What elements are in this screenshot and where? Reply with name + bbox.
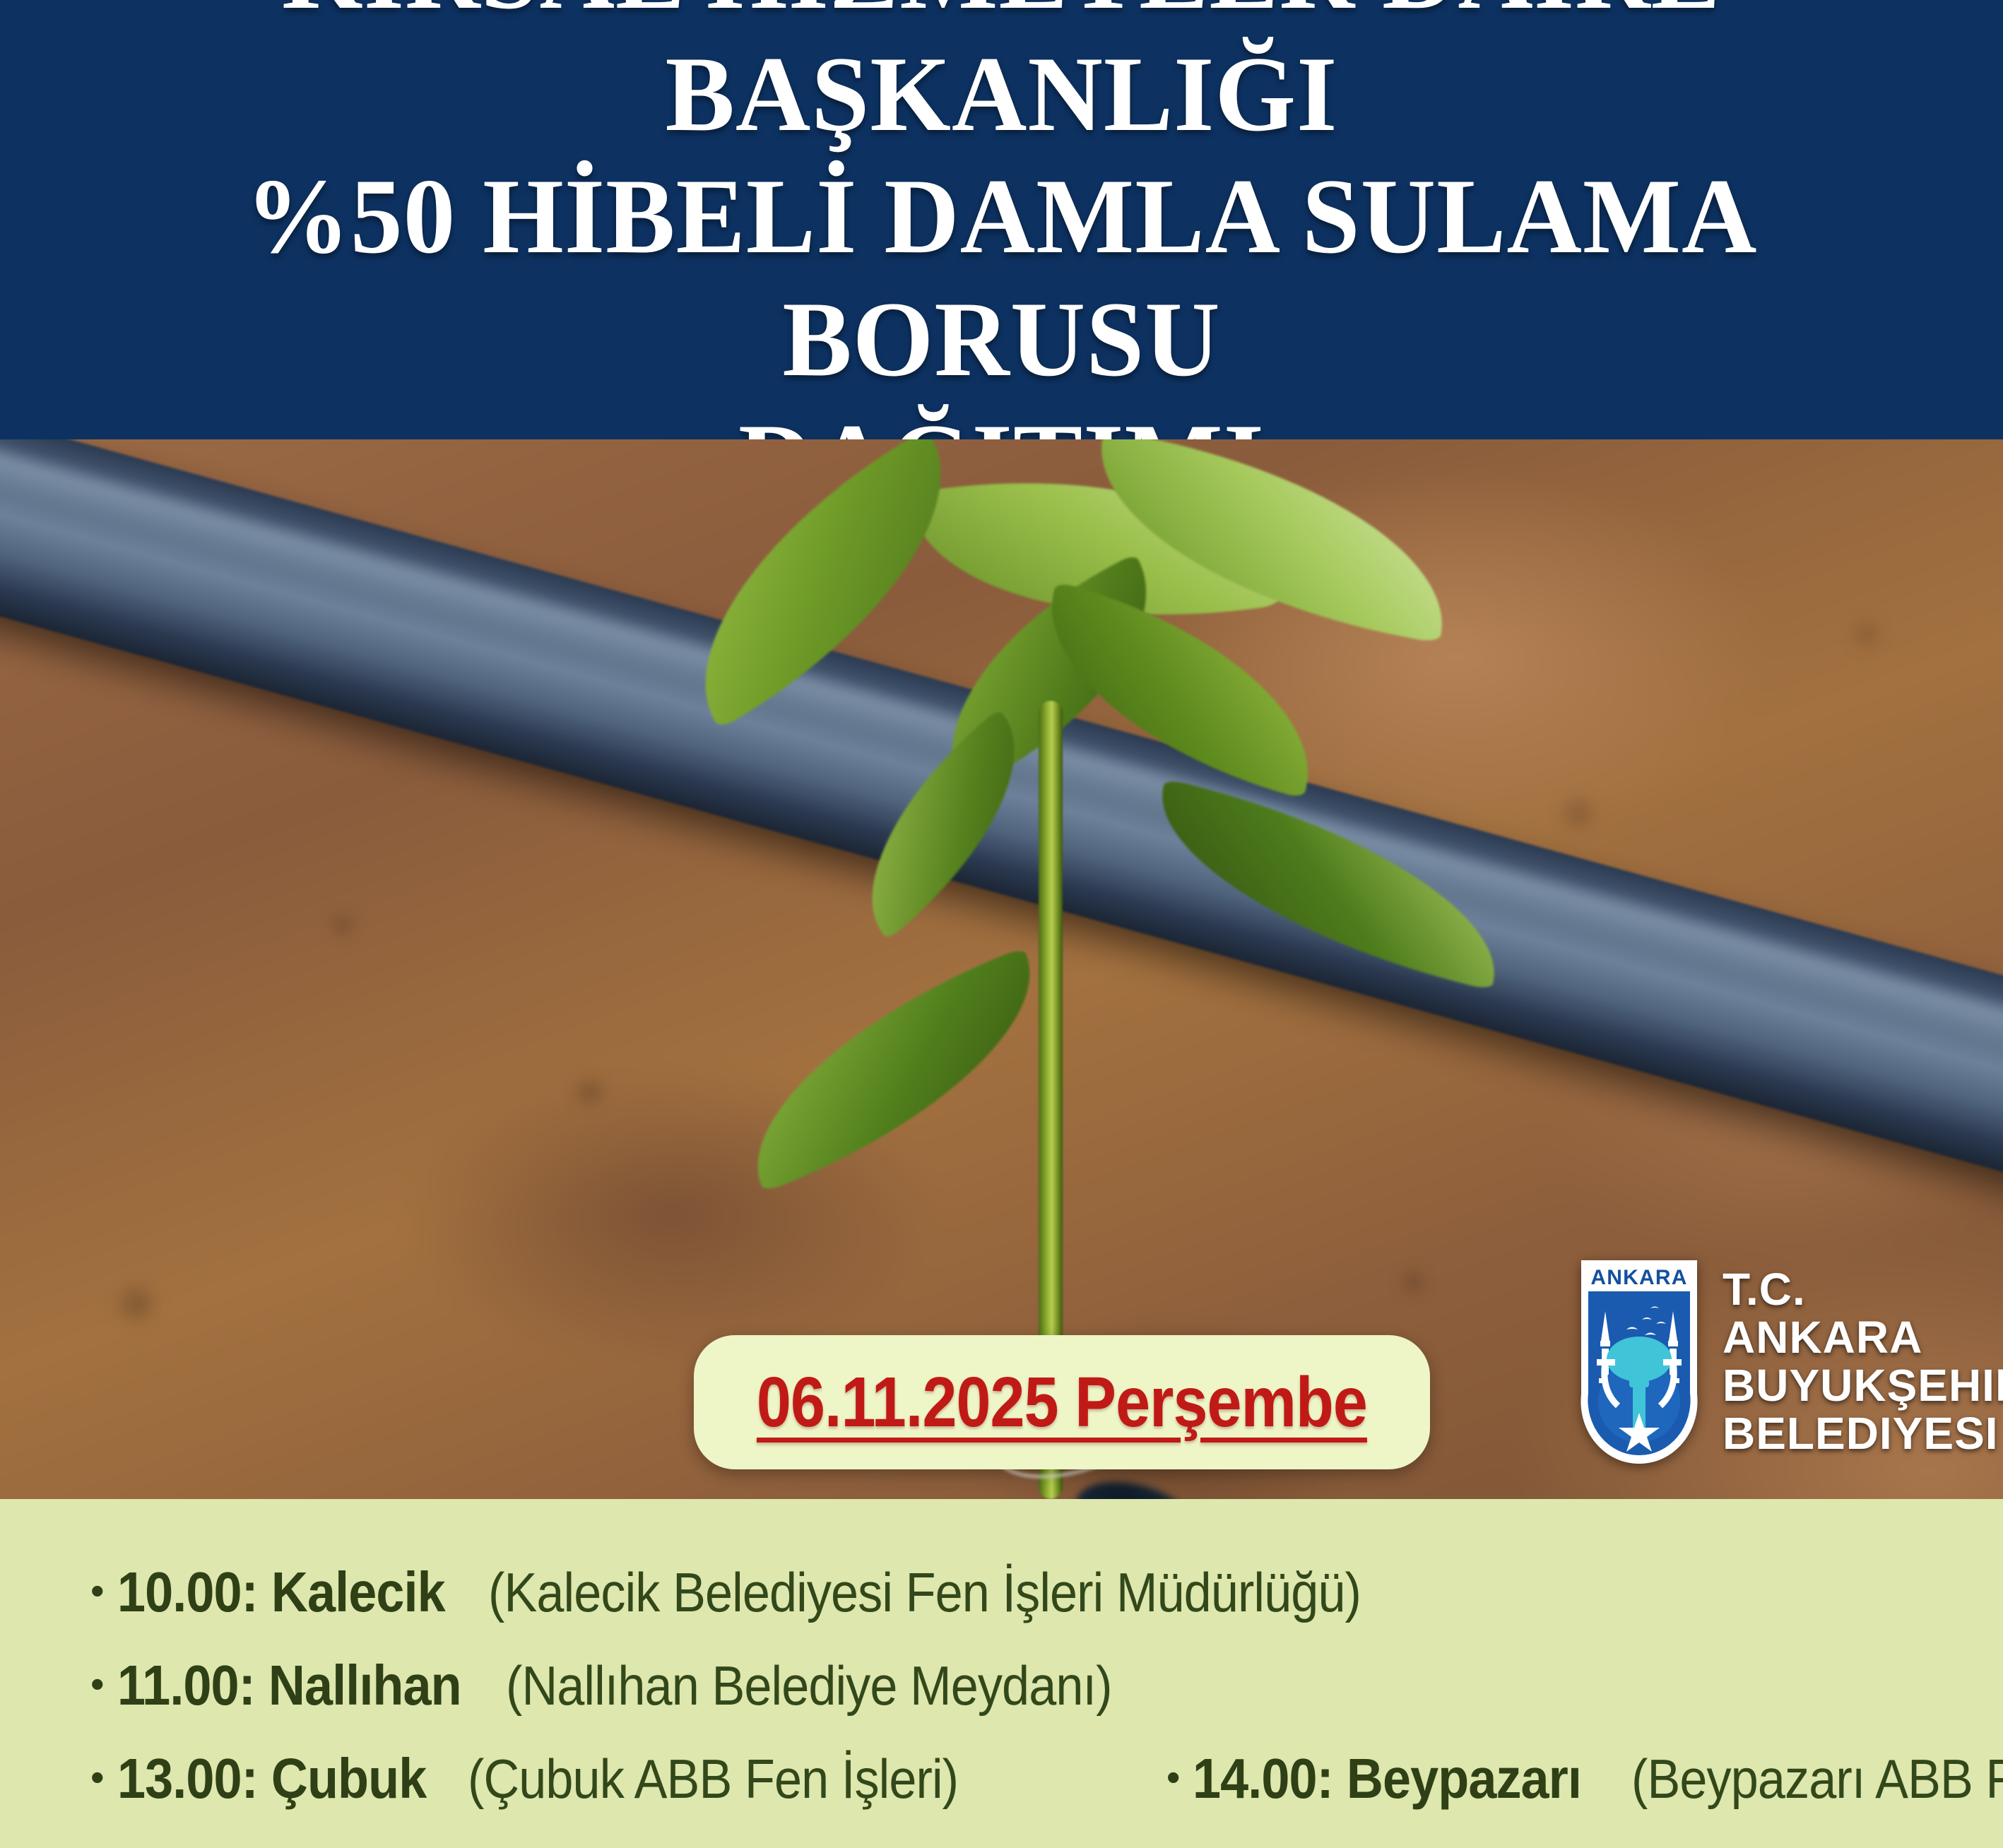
bullet-icon: • bbox=[90, 1758, 105, 1797]
plant-leaf bbox=[1135, 778, 1522, 990]
bullet-icon: • bbox=[1166, 1758, 1181, 1797]
schedule-row: • 13.00: Çubuk (Çubuk ABB Fen İşleri) • … bbox=[90, 1751, 1918, 1807]
schedule-venue: (Çubuk ABB Fen İşleri) bbox=[468, 1751, 958, 1806]
list-item: • 14.00: Beypazarı (Beypazarı ABB Fen İş… bbox=[1166, 1751, 2003, 1807]
schedule-venue: (Kalecik Belediyesi Fen İşleri Müdürlüğü… bbox=[488, 1565, 1361, 1620]
poster-root: KIRSAL HİZMETLER DAİRE BAŞKANLIĞI %50 Hİ… bbox=[0, 0, 2003, 1848]
plant-leaf bbox=[715, 947, 1072, 1193]
schedule-time-place: 10.00: Kalecik bbox=[117, 1564, 445, 1621]
header-band: KIRSAL HİZMETLER DAİRE BAŞKANLIĞI %50 Hİ… bbox=[0, 0, 2003, 439]
ankara-crest-icon: ANKARA bbox=[1577, 1256, 1701, 1468]
svg-text:ANKARA: ANKARA bbox=[1590, 1266, 1687, 1289]
list-item: • 11.00: Nallıhan (Nallıhan Belediye Mey… bbox=[90, 1657, 1179, 1714]
schedule-time-place: 11.00: Nallıhan bbox=[117, 1657, 461, 1714]
schedule-time-place: 13.00: Çubuk bbox=[117, 1751, 426, 1807]
ankara-municipality-logo: ANKARA bbox=[1577, 1256, 2003, 1468]
list-item: • 10.00: Kalecik (Kalecik Belediyesi Fen… bbox=[90, 1564, 1458, 1621]
bullet-icon: • bbox=[90, 1664, 105, 1704]
schedule-row: • 11.00: Nallıhan (Nallıhan Belediye Mey… bbox=[90, 1657, 1918, 1714]
schedule-time-place: 14.00: Beypazarı bbox=[1193, 1751, 1581, 1807]
schedule-panel: • 10.00: Kalecik (Kalecik Belediyesi Fen… bbox=[0, 1499, 2003, 1848]
date-badge: 06.11.2025 Perşembe bbox=[694, 1335, 1430, 1469]
logo-text: T.C. ANKARA BUYUKŞEHIR BELEDIYESI bbox=[1723, 1266, 2003, 1457]
date-text: 06.11.2025 Perşembe bbox=[757, 1367, 1367, 1438]
schedule-venue: (Beypazarı ABB Fen İşleri) bbox=[1631, 1751, 2003, 1806]
schedule-venue: (Nallıhan Belediye Meydanı) bbox=[506, 1658, 1112, 1713]
schedule-row: • 10.00: Kalecik (Kalecik Belediyesi Fen… bbox=[90, 1564, 1918, 1621]
bullet-icon: • bbox=[90, 1571, 105, 1611]
list-item: • 13.00: Çubuk (Çubuk ABB Fen İşleri) bbox=[90, 1751, 1012, 1807]
